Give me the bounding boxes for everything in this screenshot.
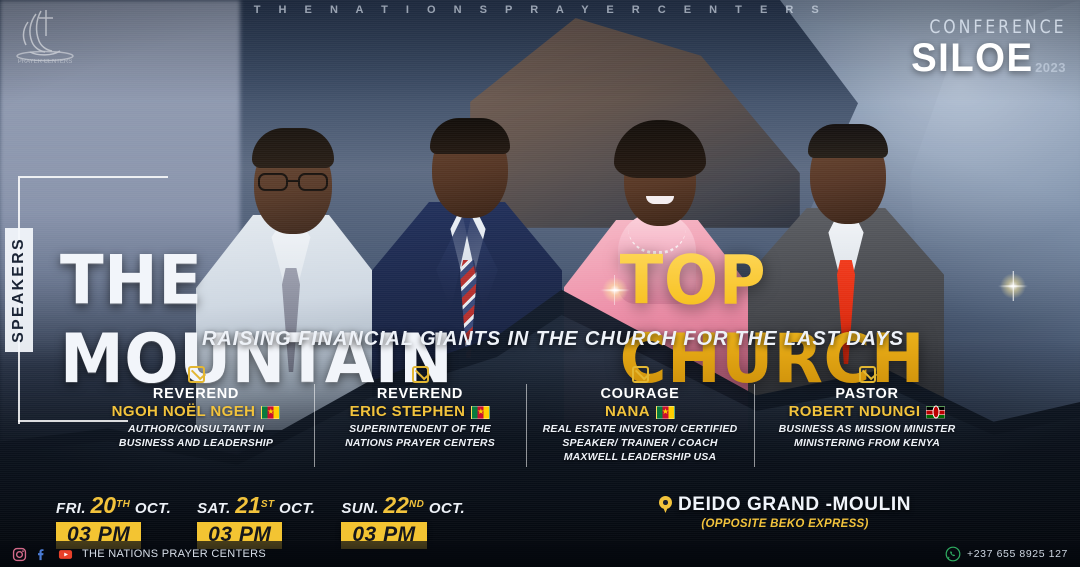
date-month: OCT. [279,500,315,517]
checkbox-checked-icon [412,366,429,383]
location-pin-icon [659,496,672,514]
checkbox-checked-icon [859,366,876,383]
date-suffix: ST [261,499,275,510]
speaker-desc-line: MAXWELL LEADERSHIP USA [532,451,748,465]
footer-bar: THE NATIONS PRAYER CENTERS +237 655 8925… [0,541,1080,567]
speaker-info-4: PASTOR ROBERT NDUNGI BUSINESS AS MISSION… [754,366,980,465]
conference-name: SILOE [911,38,1033,78]
speaker-desc-line: SPEAKER/ TRAINER / COACH [532,437,748,451]
speaker-name: NANA [605,403,650,421]
speaker-desc-line: BUSINESS AS MISSION MINISTER [760,423,974,437]
speaker-desc: REAL ESTATE INVESTOR/ CERTIFIED SPEAKER/… [532,423,748,465]
date-month: OCT. [135,500,171,517]
header-kicker: T H E N A T I O N S P R A Y E R C E N T … [0,4,1080,16]
footer-handle: THE NATIONS PRAYER CENTERS [82,548,266,560]
cameroon-flag-icon [471,406,490,419]
date-number: 20 [91,492,117,518]
speakers-side-label-text: SPEAKERS [10,237,28,343]
kenya-flag-icon [926,406,945,419]
checkbox-checked-icon [188,366,205,383]
youtube-icon[interactable] [56,547,75,562]
speaker-rank: PASTOR [760,385,974,403]
date-number: 21 [235,492,261,518]
date-label: SUN. 22ND OCT. [341,492,465,519]
speaker-desc-line: AUTHOR/CONSULTANT IN [84,423,308,437]
speaker-desc-line: NATIONS PRAYER CENTERS [320,437,520,451]
speaker-desc-line: SUPERINTENDENT OF THE [320,423,520,437]
speakers-side-label: SPEAKERS [5,228,33,352]
event-poster: PRAYER CENTERS T H E N A T I O N S P R A… [0,0,1080,567]
speaker-rank: REVEREND [320,385,520,403]
venue-block: DEIDO GRAND -MOULIN (OPPOSITE BEKO EXPRE… [655,494,915,530]
footer-phone: +237 655 8925 127 [967,548,1068,560]
speaker-name: ERIC STEPHEN [350,403,466,421]
date-label: FRI. 20TH OCT. [56,492,171,519]
date-day: FRI. [56,500,86,517]
speaker-desc-line: REAL ESTATE INVESTOR/ CERTIFIED [532,423,748,437]
venue-note: (OPPOSITE BEKO EXPRESS) [655,518,915,530]
speaker-desc: AUTHOR/CONSULTANT IN BUSINESS AND LEADER… [84,423,308,451]
conference-year: 2023 [1035,61,1066,74]
speaker-info-1: REVEREND NGOH NOËL NGEH AUTHOR/CONSULTAN… [78,366,314,465]
speaker-name: NGOH NOËL NGEH [112,403,256,421]
venue-name: DEIDO GRAND -MOULIN [678,494,911,516]
checkbox-checked-icon [632,366,649,383]
conference-branding: CONFERENCE SILOE 2023 [906,18,1066,78]
speaker-rank: REVEREND [84,385,308,403]
date-suffix: TH [116,499,130,510]
page-subtitle: RAISING FINANCIAL GIANTS IN THE CHURCH F… [202,328,904,351]
facebook-icon[interactable] [34,547,49,562]
cameroon-flag-icon [656,406,675,419]
date-suffix: ND [409,499,424,510]
speaker-name: ROBERT NDUNGI [789,403,921,421]
date-day: SAT. [197,500,231,517]
date-number: 22 [383,492,409,518]
speaker-info-3: COURAGE NANA REAL ESTATE INVESTOR/ CERTI… [526,366,754,465]
date-day: SUN. [341,500,378,517]
whatsapp-icon[interactable] [945,546,961,562]
speaker-desc-line: MINISTERING FROM KENYA [760,437,974,451]
speaker-info-row: REVEREND NGOH NOËL NGEH AUTHOR/CONSULTAN… [78,366,980,465]
conference-word: CONFERENCE [918,18,1066,37]
instagram-icon[interactable] [12,547,27,562]
speaker-desc: BUSINESS AS MISSION MINISTER MINISTERING… [760,423,974,451]
speaker-desc-line: BUSINESS AND LEADERSHIP [84,437,308,451]
cameroon-flag-icon [261,406,280,419]
speaker-desc: SUPERINTENDENT OF THE NATIONS PRAYER CEN… [320,423,520,451]
speaker-rank: COURAGE [532,385,748,403]
date-month: OCT. [429,500,465,517]
speaker-info-2: REVEREND ERIC STEPHEN SUPERINTENDENT OF … [314,366,526,465]
svg-text:PRAYER CENTERS: PRAYER CENTERS [18,59,73,65]
date-label: SAT. 21ST OCT. [197,492,315,519]
